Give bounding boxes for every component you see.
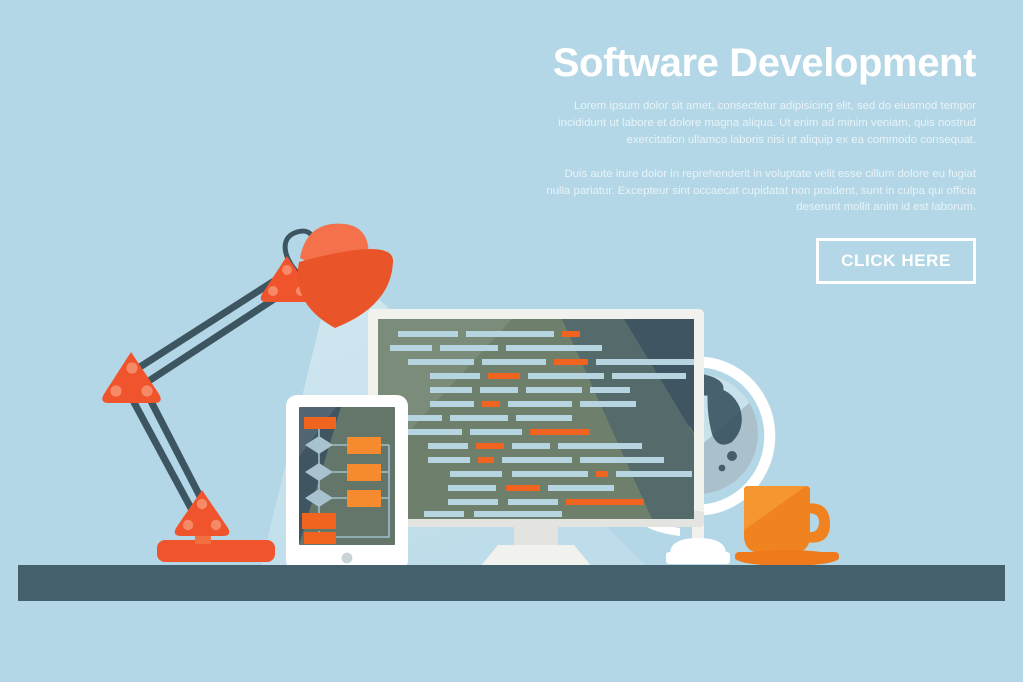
- monitor-screen: [378, 319, 700, 519]
- flowchart-box-4: [302, 513, 336, 529]
- coffee-cup: [730, 478, 850, 570]
- flowchart-box-3: [347, 490, 381, 507]
- tablet-home-button[interactable]: [342, 553, 353, 564]
- desktop-monitor: [362, 305, 710, 570]
- desk-surface: [18, 565, 1005, 601]
- cup-saucer-rim: [735, 552, 839, 560]
- hero-paragraph-1: Lorem ipsum dolor sit amet, consectetur …: [540, 98, 976, 149]
- hero-paragraph-2: Duis aute irure dolor in reprehenderit i…: [540, 166, 976, 217]
- tablet-screen: [299, 407, 395, 545]
- flowchart-box-1: [347, 437, 381, 454]
- flowchart-box-2: [347, 464, 381, 481]
- lamp-shade: [298, 249, 393, 328]
- hero-text-panel: Software Development Lorem ipsum dolor s…: [540, 42, 976, 284]
- illustration-canvas: Software Development Lorem ipsum dolor s…: [0, 0, 1023, 682]
- tablet-device: [286, 395, 408, 571]
- monitor-stand-base: [480, 545, 592, 567]
- click-here-button[interactable]: CLICK HERE: [816, 238, 976, 284]
- page-title: Software Development: [540, 42, 976, 84]
- flowchart-box-start: [304, 417, 336, 429]
- flowchart-box-end: [304, 532, 336, 544]
- lamp-base: [157, 540, 275, 562]
